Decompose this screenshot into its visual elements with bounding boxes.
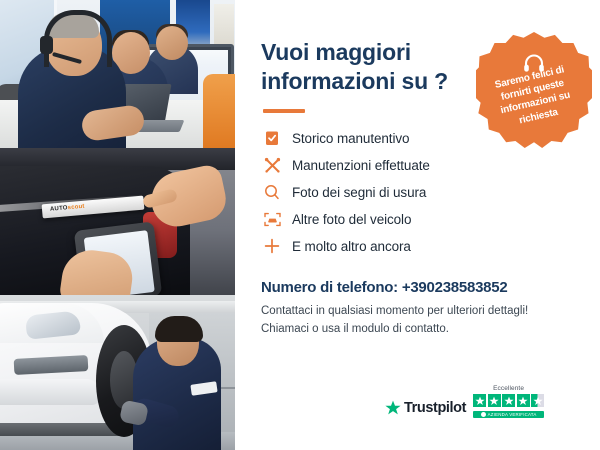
list-item-label: Foto dei segni di usura: [292, 185, 426, 200]
trustpilot-logo: Trustpilot: [385, 400, 466, 418]
photo-column: AUTOscout: [0, 0, 235, 450]
agent-head-right: [156, 26, 188, 60]
contact-subtext-line-2: Chiamaci o usa il modulo di contatto.: [261, 321, 576, 339]
status-badge: Saremo felici di fornirti queste informa…: [476, 32, 592, 148]
content-panel: Vuoi maggiori informazioni su ? Storico …: [235, 0, 600, 450]
orange-object: [203, 74, 235, 148]
list-item-label: E molto altro ancora: [292, 239, 411, 254]
strip-brand-label: AUTOscout: [50, 204, 85, 213]
mechanic-wheel-check-photo: [0, 295, 235, 450]
crossed-tools-icon: [261, 155, 283, 175]
phone-number: Numero di telefono: +390238583852: [261, 279, 576, 296]
page-title: Vuoi maggiori informazioni su ?: [261, 38, 466, 96]
star-icon: [517, 394, 530, 407]
headset-earcup: [40, 36, 53, 54]
clipboard-check-icon: [261, 128, 283, 148]
list-item-label: Manutenzioni effettuate: [292, 158, 430, 173]
star-icon: [385, 400, 401, 416]
star-icon: [488, 394, 501, 407]
trustpilot-stars: [473, 394, 544, 407]
trustpilot-widget[interactable]: Trustpilot Eccellente: [385, 385, 544, 418]
list-item: Foto dei segni di usura: [261, 179, 576, 206]
promo-poster: AUTOscout: [0, 0, 600, 450]
trustpilot-excellent-label: Eccellente: [493, 385, 524, 392]
magnifier-icon: [261, 182, 283, 202]
car-scan-icon: [261, 209, 283, 229]
star-icon: [502, 394, 515, 407]
contact-subtext: Contattaci in qualsiasi momento per ulte…: [261, 303, 576, 339]
check-circle-icon: [481, 412, 486, 417]
list-item: E molto altro ancora: [261, 233, 576, 260]
plus-icon: [261, 236, 283, 256]
car-lift-arm: [0, 422, 120, 436]
list-item: Altre foto del veicolo: [261, 206, 576, 233]
title-underline: [263, 109, 305, 113]
contact-subtext-line-1: Contattaci in qualsiasi momento per ulte…: [261, 303, 576, 321]
call-center-agents-photo: [0, 0, 235, 148]
trustpilot-rating: Eccellente: [473, 385, 544, 418]
trustpilot-verified-badge: AZIENDA VERIFICATA: [473, 411, 544, 418]
star-icon-half: [531, 394, 544, 407]
mechanic-hair: [155, 316, 203, 342]
list-item-label: Storico manutentivo: [292, 131, 409, 146]
list-item: Manutenzioni effettuate: [261, 152, 576, 179]
star-icon: [473, 394, 486, 407]
trustpilot-verified-label: AZIENDA VERIFICATA: [488, 412, 537, 417]
car-bumper: [0, 379, 100, 405]
list-item-label: Altre foto del veicolo: [292, 212, 411, 227]
trustpilot-name: Trustpilot: [404, 400, 466, 416]
car-inspection-tablet-photo: AUTOscout: [0, 148, 235, 295]
